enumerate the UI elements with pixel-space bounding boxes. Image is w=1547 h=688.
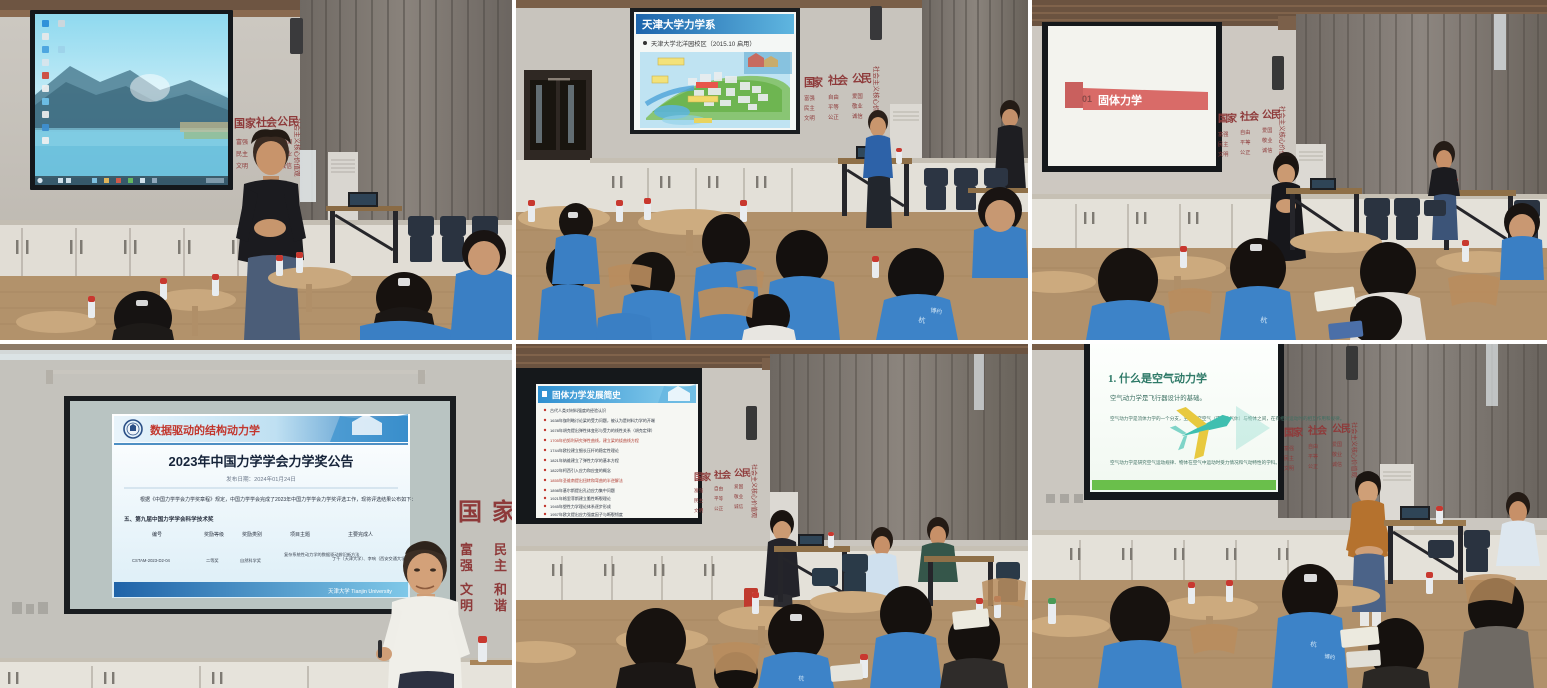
photo-panel-top-left: 国 社 公 家 会 民 富强 民主 文明 自由 平等 公正 爱国 敬业 诚信 社… xyxy=(0,0,512,340)
svg-text:敬业: 敬业 xyxy=(734,493,744,500)
svg-text:诚信: 诚信 xyxy=(852,112,863,120)
slide-title: 固体力学发展简史 xyxy=(552,389,621,400)
svg-text:爱国: 爱国 xyxy=(1262,126,1272,134)
svg-text:富强: 富强 xyxy=(236,138,248,146)
photo-panel-bottom-right: 1. 什么是空气动力学 空气动力学是飞行器设计的基础。 空气动力学是流体力学的一… xyxy=(1028,340,1547,688)
svg-text:自由: 自由 xyxy=(1240,128,1250,136)
svg-text:奖励类别: 奖励类别 xyxy=(242,531,262,538)
svg-text:民: 民 xyxy=(1341,423,1351,435)
slide-section-heading: 五、第九届中国力学学会科学技术奖 xyxy=(124,515,214,523)
svg-text:1638年伽利略讨论梁的受力问题，被认为是材料力学的开端: 1638年伽利略讨论梁的受力问题，被认为是材料力学的开端 xyxy=(550,417,655,423)
svg-text:1705年伯努利研究弹性曲线，建立梁的挠曲线方程: 1705年伯努利研究弹性曲线，建立梁的挠曲线方程 xyxy=(550,437,639,443)
round-table xyxy=(1290,231,1382,253)
svg-text:1855年圣维南提出扭转和弯曲的半逆解法: 1855年圣维南提出扭转和弯曲的半逆解法 xyxy=(550,477,623,483)
slide-title: 1. 什么是空气动力学 xyxy=(1108,371,1207,385)
svg-text:公正: 公正 xyxy=(828,114,839,121)
svg-text:谐: 谐 xyxy=(494,598,507,613)
svg-text:富强: 富强 xyxy=(804,94,815,102)
svg-text:CSTAM-2023-D2-04: CSTAM-2023-D2-04 xyxy=(132,558,171,563)
svg-text:编号: 编号 xyxy=(152,531,162,538)
svg-text:富强: 富强 xyxy=(1284,445,1294,452)
svg-text:明: 明 xyxy=(460,598,473,613)
svg-text:公: 公 xyxy=(277,115,288,128)
svg-text:家: 家 xyxy=(702,471,712,482)
svg-text:民: 民 xyxy=(494,542,507,557)
svg-text:国: 国 xyxy=(234,117,245,130)
svg-text:1898年基尔斯提出孔边应力集中问题: 1898年基尔斯提出孔边应力集中问题 xyxy=(550,487,615,493)
slide-section-number: 01 xyxy=(1082,94,1092,104)
svg-text:公正: 公正 xyxy=(1308,464,1318,470)
svg-text:敬业: 敬业 xyxy=(1332,451,1342,458)
slide-section-block xyxy=(1065,82,1083,108)
svg-text:1744年欧拉建立细长压杆的稳定性理论: 1744年欧拉建立细长压杆的稳定性理论 xyxy=(550,447,619,453)
svg-text:平等: 平等 xyxy=(1240,138,1250,146)
slide-paragraph: 根据《中国力学学会力学奖章程》规定，中国力学学会完成了2023年中国力学学会力学… xyxy=(140,496,416,503)
svg-text:文明: 文明 xyxy=(804,114,815,122)
svg-text:平等: 平等 xyxy=(714,495,724,502)
svg-text:富强: 富强 xyxy=(694,487,704,494)
svg-text:强: 强 xyxy=(460,558,473,573)
panel-2-scene: 天津大学力学系 天津大学北洋园校区（2015.10 启用） xyxy=(512,0,1028,340)
wall-speaker xyxy=(1346,346,1358,380)
svg-text:文明: 文明 xyxy=(1284,465,1294,472)
svg-text:民主: 民主 xyxy=(1284,455,1294,462)
panel-5-scene: 固体力学发展简史 古代人类对材料强度的经验认识 1638年伽利略讨论梁的受力问题… xyxy=(512,340,1028,688)
svg-text:富强: 富强 xyxy=(1218,130,1228,138)
windows-taskbar xyxy=(35,176,228,185)
microphone xyxy=(378,640,382,658)
photo-collage: 国 社 公 家 会 民 富强 民主 文明 自由 平等 公正 爱国 敬业 诚信 社… xyxy=(0,0,1547,688)
svg-text:古代人类对材料强度的经验认识: 古代人类对材料强度的经验认识 xyxy=(550,407,606,413)
svg-text:会: 会 xyxy=(837,73,849,87)
slide-footer-logo: 天津大学 Tianjin University xyxy=(328,587,392,595)
svg-text:平等: 平等 xyxy=(1308,453,1318,460)
svg-text:奖励等级: 奖励等级 xyxy=(204,531,224,538)
presenter-table xyxy=(774,546,850,552)
svg-text:民: 民 xyxy=(861,72,872,85)
svg-text:社会主义核心价值观: 社会主义核心价值观 xyxy=(750,464,758,518)
svg-text:1821年纳维建立了弹性力学的基本方程: 1821年纳维建立了弹性力学的基本方程 xyxy=(550,457,619,463)
svg-text:主要完成人: 主要完成人 xyxy=(348,531,373,538)
svg-text:爱国: 爱国 xyxy=(1332,441,1342,448)
svg-text:家: 家 xyxy=(1293,426,1304,439)
svg-text:民主: 民主 xyxy=(236,150,248,158)
collage-gutter-vertical-1 xyxy=(512,0,516,688)
svg-text:民主: 民主 xyxy=(1218,140,1228,148)
svg-text:爱国: 爱国 xyxy=(734,483,744,490)
slide-lead: 空气动力学是飞行器设计的基础。 xyxy=(1110,393,1206,402)
svg-text:1945年塑性力学理论体系逐步形成: 1945年塑性力学理论体系逐步形成 xyxy=(550,503,611,509)
svg-text:社会主义核心价值观: 社会主义核心价值观 xyxy=(1350,422,1358,478)
photo-panel-top-right: 01 固体力学 国家 社会 公民 富强民主文明 自由平等公正 爱国敬业诚信 社会… xyxy=(1028,0,1547,340)
svg-text:平等: 平等 xyxy=(828,103,839,111)
svg-text:1822年柯西引入应力和应变的概念: 1822年柯西引入应力和应变的概念 xyxy=(550,467,611,473)
photo-panel-bottom-center: 固体力学发展简史 古代人类对材料强度的经验认识 1638年伽利略讨论梁的受力问题… xyxy=(512,340,1028,688)
svg-text:会: 会 xyxy=(1317,424,1327,437)
panel-3-scene: 01 固体力学 国家 社会 公民 富强民主文明 自由平等公正 爱国敬业诚信 社会… xyxy=(1028,0,1547,340)
wall-speaker xyxy=(746,406,757,440)
svg-text:民主: 民主 xyxy=(694,497,704,504)
panel-4-scene: 数据驱动的结构动力学 2023年中国力学学会力学奖公告 发布日期：2024年01… xyxy=(0,340,512,688)
svg-text:家: 家 xyxy=(492,498,512,526)
slide-bullet: 天津大学北洋园校区（2015.10 启用） xyxy=(651,40,756,48)
svg-text:会: 会 xyxy=(1249,110,1259,123)
svg-text:和: 和 xyxy=(494,582,507,597)
svg-text:文明: 文明 xyxy=(1218,150,1228,158)
svg-text:诚信: 诚信 xyxy=(734,503,744,510)
svg-text:文明: 文明 xyxy=(236,162,248,170)
svg-text:国: 国 xyxy=(458,499,482,526)
svg-text:家: 家 xyxy=(1227,112,1238,125)
svg-text:家: 家 xyxy=(812,75,824,89)
campus-map-graphic xyxy=(640,52,792,128)
round-table xyxy=(1028,615,1110,637)
svg-text:文明: 文明 xyxy=(694,507,704,514)
svg-text:敬业: 敬业 xyxy=(852,102,863,110)
svg-text:自由: 自由 xyxy=(714,485,724,492)
photo-panel-bottom-left: 数据驱动的结构动力学 2023年中国力学学会力学奖公告 发布日期：2024年01… xyxy=(0,340,512,688)
svg-text:敬业: 敬业 xyxy=(1262,136,1272,144)
collage-gutter-vertical-2 xyxy=(1028,0,1032,688)
wall-speaker xyxy=(870,6,882,40)
svg-text:主: 主 xyxy=(494,558,507,573)
presenter-table xyxy=(1384,520,1466,526)
svg-text:公正: 公正 xyxy=(1240,149,1250,156)
slide-footer-bar xyxy=(1092,480,1276,490)
slide-title: 固体力学 xyxy=(1098,93,1142,107)
svg-text:自由: 自由 xyxy=(1308,443,1318,450)
svg-text:会: 会 xyxy=(722,469,732,480)
svg-text:家: 家 xyxy=(245,116,257,130)
svg-text:1957年欧文提出应力强度因子与断裂韧度: 1957年欧文提出应力强度因子与断裂韧度 xyxy=(550,511,623,517)
slide-paragraph-2: 空气动力学是研究空气运动规律、物体在空气中运动时受力情况和气动特性的学科。 xyxy=(1110,459,1280,466)
slide-subtitle: 发布日期：2024年01月24日 xyxy=(226,475,296,483)
svg-text:1921年格里菲斯建立脆性断裂理论: 1921年格里菲斯建立脆性断裂理论 xyxy=(550,495,611,501)
svg-text:自然科学奖: 自然科学奖 xyxy=(240,557,262,564)
svg-text:诚信: 诚信 xyxy=(1332,461,1342,468)
wall-speaker xyxy=(290,18,303,54)
svg-text:二等奖: 二等奖 xyxy=(206,557,219,564)
svg-text:公正: 公正 xyxy=(714,506,724,511)
panel-1-scene: 国 社 公 家 会 民 富强 民主 文明 自由 平等 公正 爱国 敬业 诚信 社… xyxy=(0,0,512,340)
slide-title: 2023年中国力学学会力学奖公告 xyxy=(169,454,354,469)
panel-6-scene: 1. 什么是空气动力学 空气动力学是飞行器设计的基础。 空气动力学是流体力学的一… xyxy=(1028,340,1547,688)
photo-panel-top-center: 天津大学力学系 天津大学北洋园校区（2015.10 启用） xyxy=(512,0,1028,340)
svg-text:诚信: 诚信 xyxy=(1262,146,1272,154)
svg-text:爱国: 爱国 xyxy=(852,92,863,100)
svg-text:文: 文 xyxy=(460,582,474,597)
svg-text:会: 会 xyxy=(266,115,278,129)
slide-title: 天津大学力学系 xyxy=(642,18,716,31)
slide-header: 数据驱动的结构动力学 xyxy=(150,423,260,437)
svg-text:富: 富 xyxy=(460,542,473,557)
wall-speaker xyxy=(1272,56,1284,90)
svg-text:1678年胡克提出弹性体变形与受力的线性关系（胡克定律）: 1678年胡克提出弹性体变形与受力的线性关系（胡克定律） xyxy=(550,427,655,433)
collage-gutter-horizontal xyxy=(0,340,1547,344)
svg-text:民: 民 xyxy=(742,468,751,478)
svg-text:自由: 自由 xyxy=(828,93,839,101)
svg-text:项目主题: 项目主题 xyxy=(290,531,310,538)
svg-text:民主: 民主 xyxy=(804,104,815,112)
